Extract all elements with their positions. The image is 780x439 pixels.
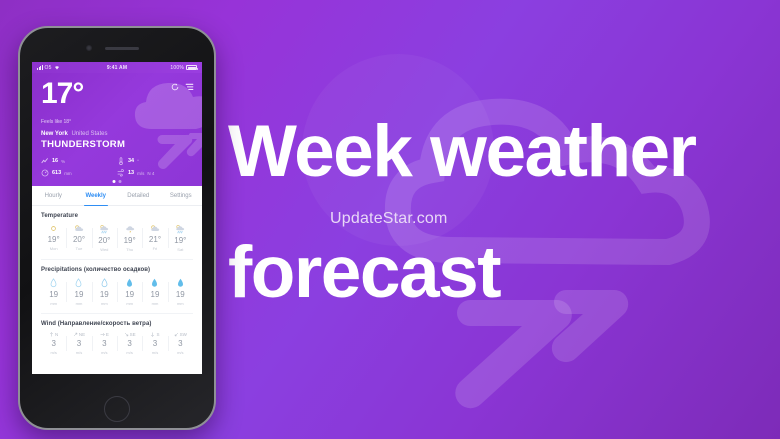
precipitation-cell[interactable]: 19 mm: [66, 278, 91, 306]
wind-cell[interactable]: S 3 m/s: [142, 332, 167, 355]
tab-settings[interactable]: Settings: [160, 186, 203, 205]
temperature-cell[interactable]: 19° Thu: [117, 224, 142, 252]
hero-title-line-2: forecast: [228, 239, 780, 306]
droplet-icon: [50, 278, 57, 288]
wind-icon: [117, 169, 125, 177]
wind-direction-label: S: [156, 332, 159, 337]
city-label: New York: [41, 131, 68, 137]
temperature-value: 20°: [73, 235, 85, 244]
wind-unit: m/s: [152, 350, 158, 355]
temperature-day: Fri: [153, 246, 158, 251]
section-precipitations: Precipitations (количество осадков) 19 m…: [32, 260, 202, 306]
temperature-cell[interactable]: 21° Fri: [142, 224, 167, 252]
home-button[interactable]: [104, 396, 130, 422]
precipitation-unit: mm: [76, 301, 83, 306]
temperature-day: Mon: [50, 246, 58, 251]
arrow-icon: [100, 332, 105, 337]
wind-direction-group: E: [100, 332, 109, 337]
precipitation-value: 19: [100, 290, 109, 299]
wind-direction-label: NE: [79, 332, 85, 337]
wind-cell[interactable]: NE 3 m/s: [66, 332, 91, 355]
precipitation-value: 19: [151, 290, 160, 299]
wind-value: 3: [51, 339, 55, 348]
arrow-icon: [124, 332, 129, 337]
wind-cell[interactable]: N 3 m/s: [41, 332, 66, 355]
stat-temperature-max-value: 34: [128, 158, 134, 164]
precipitation-unit: mm: [126, 301, 133, 306]
wind-direction-group: N: [49, 332, 58, 337]
hero-text-block: Week weather forecast UpdateStar.com: [228, 118, 780, 306]
precipitation-unit: mm: [50, 301, 57, 306]
pressure-icon: [41, 169, 49, 177]
section-precipitations-title: Precipitations (количество осадков): [41, 267, 193, 273]
feels-like-label: Feels like 18°: [41, 119, 193, 125]
wind-cell[interactable]: E 3 m/s: [92, 332, 117, 355]
wind-value: 3: [127, 339, 131, 348]
phone-screen: O5 9:41 AM 100%: [32, 62, 202, 374]
stat-temperature-max: 34 °: [117, 157, 193, 165]
temperature-cell[interactable]: 19° Sat: [168, 224, 193, 252]
carrier-label: O5: [45, 65, 52, 71]
rain-cloud-icon: [175, 224, 185, 234]
partly-cloudy-icon: [74, 224, 84, 233]
wifi-icon: [54, 65, 60, 70]
temperature-value: 19°: [174, 236, 186, 245]
weather-header: 17° Feels like 18° New York United State…: [32, 73, 202, 186]
precipitation-cell[interactable]: 19 mm: [168, 278, 193, 306]
wind-direction-label: SE: [130, 332, 136, 337]
wind-value: 3: [178, 339, 182, 348]
section-wind: Wind (Направление/скорость ветра) N 3 m/…: [32, 314, 202, 355]
status-time: 9:41 AM: [107, 65, 127, 71]
temperature-value: 19°: [48, 235, 60, 244]
wind-direction-group: NE: [73, 332, 85, 337]
current-temperature: 17°: [41, 79, 193, 109]
wind-cell[interactable]: SE 3 m/s: [117, 332, 142, 355]
droplet-icon: [177, 278, 184, 288]
arrow-icon: [73, 332, 78, 337]
stat-humidity: 16 %: [41, 157, 117, 165]
section-temperature-title: Temperature: [41, 213, 193, 219]
stat-temperature-max-unit: °: [137, 159, 139, 164]
precipitation-cell[interactable]: 19 mm: [41, 278, 66, 306]
condition-label: THUNDERSTORM: [41, 139, 193, 150]
temperature-value: 20°: [98, 236, 110, 245]
section-wind-title: Wind (Направление/скорость ветра): [41, 321, 193, 327]
stat-humidity-value: 16: [52, 158, 58, 164]
precipitation-cell[interactable]: 19 mm: [92, 278, 117, 306]
rain-cloud-icon: [99, 224, 109, 234]
wind-direction-label: E: [106, 332, 109, 337]
wind-direction-group: S: [150, 332, 159, 337]
precipitation-unit: mm: [177, 301, 184, 306]
thermometer-icon: [117, 157, 125, 165]
rain-cloud-icon: [125, 224, 135, 234]
droplet-icon: [126, 278, 133, 288]
temperature-day: Sat: [177, 247, 183, 252]
precipitation-value: 19: [75, 290, 84, 299]
stat-wind-direction: N 4: [147, 171, 154, 176]
wind-unit: m/s: [126, 350, 132, 355]
wind-value: 3: [102, 339, 106, 348]
precipitation-unit: mm: [152, 301, 159, 306]
hero-subtitle: UpdateStar.com: [330, 210, 448, 228]
precipitation-value: 19: [49, 290, 58, 299]
country-label: United States: [71, 131, 107, 137]
stat-pressure: 613 mm: [41, 169, 117, 177]
wind-value: 3: [153, 339, 157, 348]
battery-percent: 100%: [170, 65, 184, 71]
temperature-row: 19° Mon 20° Tue: [41, 224, 193, 252]
droplet-icon: [151, 278, 158, 288]
section-temperature: Temperature 19° Mon 20° Tue: [32, 206, 202, 252]
precipitation-value: 19: [176, 290, 185, 299]
page-indicator[interactable]: [113, 180, 122, 183]
cellular-signal-icon: [37, 65, 43, 70]
stat-pressure-unit: mm: [64, 171, 72, 176]
partly-cloudy-icon: [150, 224, 160, 233]
droplet-icon: [101, 278, 108, 288]
status-bar: O5 9:41 AM 100%: [32, 62, 202, 73]
wind-direction-group: SW: [174, 332, 187, 337]
wind-unit: m/s: [101, 350, 107, 355]
precipitation-unit: mm: [101, 301, 108, 306]
wind-direction-label: N: [55, 332, 58, 337]
precipitation-cell[interactable]: 19 mm: [142, 278, 167, 306]
temperature-day: Thu: [126, 247, 133, 252]
temperature-day: Tue: [76, 246, 83, 251]
phone-mockup: O5 9:41 AM 100%: [18, 26, 216, 430]
wind-unit: m/s: [50, 350, 56, 355]
wind-direction-group: SE: [124, 332, 136, 337]
temperature-value: 19°: [124, 236, 136, 245]
tab-bar: Hourly Weekly Detailed Settings: [32, 186, 202, 206]
humidity-icon: [41, 157, 49, 165]
precipitations-row: 19 mm 19 mm 19 mm: [41, 278, 193, 306]
arrow-icon: [49, 332, 54, 337]
battery-full-icon: [186, 65, 197, 70]
location-label[interactable]: New York United States: [41, 131, 193, 137]
temperature-cell[interactable]: 20° Tue: [66, 224, 91, 252]
wind-value: 3: [77, 339, 81, 348]
hero-title-line-1: Week weather: [228, 118, 780, 185]
tab-hourly[interactable]: Hourly: [32, 186, 75, 205]
earpiece-speaker-icon: [105, 47, 139, 50]
sun-icon: [49, 224, 58, 233]
page-dot-1[interactable]: [113, 180, 116, 183]
wind-unit: m/s: [177, 350, 183, 355]
precipitation-cell[interactable]: 19 mm: [117, 278, 142, 306]
front-camera-icon: [86, 45, 92, 51]
precipitation-value: 19: [125, 290, 134, 299]
wind-direction-label: SW: [180, 332, 187, 337]
tab-detailed[interactable]: Detailed: [117, 186, 160, 205]
temperature-cell[interactable]: 19° Mon: [41, 224, 66, 252]
stat-humidity-unit: %: [61, 159, 65, 164]
stat-wind-unit: m/s: [137, 171, 144, 176]
droplet-icon: [75, 278, 82, 288]
arrow-icon: [174, 332, 179, 337]
page-dot-2[interactable]: [119, 180, 122, 183]
stat-pressure-value: 613: [52, 170, 61, 176]
arrow-icon: [150, 332, 155, 337]
temperature-value: 21°: [149, 235, 161, 244]
wind-unit: m/s: [76, 350, 82, 355]
temperature-cell[interactable]: 20° Wed: [92, 224, 117, 252]
stat-wind: 13 m/s N 4: [117, 169, 193, 177]
tab-weekly[interactable]: Weekly: [75, 186, 118, 205]
stat-wind-value: 13: [128, 170, 134, 176]
weather-stats: 16 % 34 °: [41, 157, 193, 177]
wind-cell[interactable]: SW 3 m/s: [168, 332, 193, 355]
temperature-day: Wed: [100, 247, 108, 252]
wind-row: N 3 m/s NE 3 m/s: [41, 332, 193, 355]
